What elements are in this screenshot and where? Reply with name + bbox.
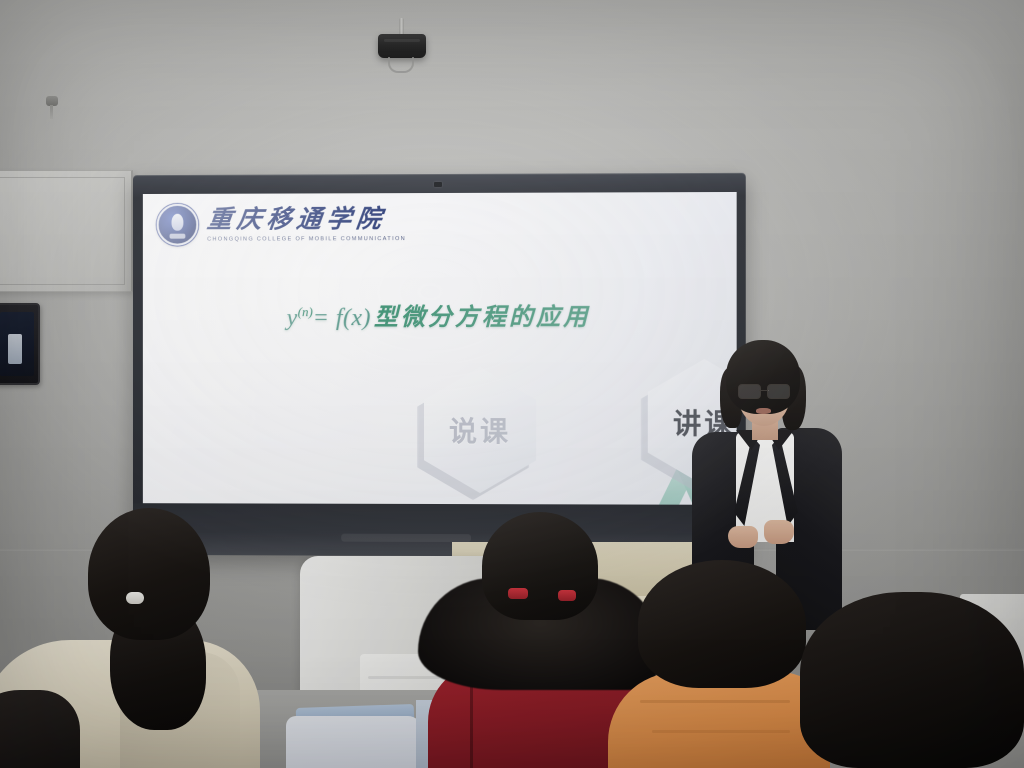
student-edge-head (0, 690, 80, 768)
lectern-slot (368, 676, 440, 679)
puffer-fold (640, 700, 790, 703)
hair-clip-icon (558, 590, 576, 601)
camera-icon (434, 182, 442, 187)
title-equation: = f(x) (313, 305, 371, 331)
presentation-display[interactable]: 重庆移通学院 CHONGQING COLLEGE OF MOBILE COMMU… (133, 173, 746, 557)
glasses-lens-left (738, 384, 761, 399)
instructor-hair (726, 340, 800, 414)
wall-control-panel[interactable] (0, 303, 40, 385)
logo-name-cn: 重庆移通学院 (206, 207, 408, 233)
slide-canvas[interactable]: 重庆移通学院 CHONGQING COLLEGE OF MOBILE COMMU… (143, 192, 737, 505)
hex-button-shuoke-label: 说课 (449, 410, 511, 450)
glasses-icon (738, 384, 790, 397)
hair-clip-icon (508, 588, 528, 599)
ceiling-projector-icon (378, 34, 426, 58)
classroom-photo: 重庆移通学院 CHONGQING COLLEGE OF MOBILE COMMU… (0, 0, 1024, 768)
student-orange-puffer-head (638, 560, 806, 688)
title-variable: y (287, 305, 298, 331)
control-panel-indicator (8, 334, 22, 364)
puffer-fold (652, 730, 790, 733)
control-panel-screen[interactable] (0, 312, 34, 376)
ceiling-bracket (388, 57, 414, 73)
wordmark: 重庆移通学院 CHONGQING COLLEGE OF MOBILE COMMU… (207, 207, 406, 242)
glasses-lens-right (767, 384, 790, 399)
wall-panel-knob[interactable] (46, 96, 58, 106)
student-red-parka-head (482, 512, 598, 620)
university-crest-icon (157, 204, 199, 246)
title-chinese: 型微分方程的应用 (374, 305, 590, 331)
wall-panel-frame (0, 177, 125, 285)
desk-papers (286, 716, 422, 768)
slide-title: y(n)= f(x)型微分方程的应用 (143, 297, 737, 333)
title-superscript: (n) (298, 304, 313, 319)
wall-cabinet-panel (0, 170, 133, 292)
slide-logo-block: 重庆移通学院 CHONGQING COLLEGE OF MOBILE COMMU… (157, 203, 406, 246)
instructor-hand-right (764, 520, 794, 544)
instructor-hand-left (728, 526, 758, 548)
instructor-mouth (756, 408, 771, 414)
student-far-right-head (800, 592, 1024, 768)
speaker-grille (341, 534, 471, 542)
student-ponytail-head (88, 508, 210, 640)
logo-name-en: CHONGQING COLLEGE OF MOBILE COMMUNICATIO… (207, 236, 406, 242)
student-hair-tie (126, 592, 144, 604)
